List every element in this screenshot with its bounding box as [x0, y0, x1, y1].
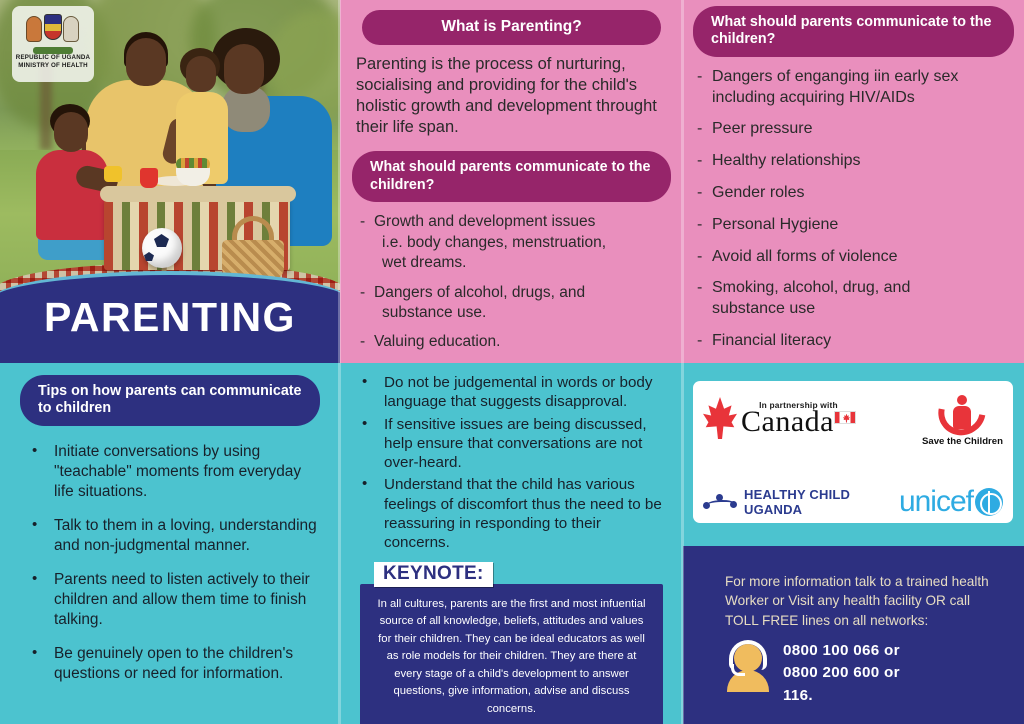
toll-free-numbers: 0800 100 066 or 0800 200 600 or 116. — [783, 640, 900, 708]
contact-information-box: For more information talk to a trained h… — [683, 546, 1024, 724]
healthy-child-uganda-icon — [703, 494, 738, 510]
list-item-sub1: substance use. — [374, 303, 671, 323]
list-item-main: Dangers of alcohol, drugs, and — [374, 284, 585, 301]
save-the-children-logo: Save the Children — [922, 389, 1003, 447]
list-item-cont: substance use — [712, 299, 1014, 320]
list-item-main: Valuing education. — [374, 333, 500, 350]
heading-what-should-parents-communicate-right: What should parents communicate to the c… — [693, 6, 1014, 57]
communicate-topics-list-right: Dangers of engangi­ng iin early sex incl… — [697, 67, 1014, 352]
uganda-ministry-of-health-logo: REPUBLIC OF UGANDA MINISTRY OF HEALTH — [12, 6, 94, 82]
unicef-globe-icon — [975, 488, 1003, 516]
list-item-main: Avoid all forms of violence — [712, 248, 898, 265]
canada-logo: In partnership with Canada — [703, 397, 856, 439]
list-item-main: Dangers of engangi­ng iin early sex — [712, 68, 958, 85]
column-divider-2 — [681, 0, 684, 724]
list-item-sub1: i.e. body changes, menstruation, — [374, 233, 671, 253]
phone-number-2: 0800 200 600 or — [783, 662, 900, 685]
canada-flag-icon — [834, 411, 856, 424]
keynote-block: KEYNOTE: In all cultures, parents are th… — [360, 562, 663, 724]
list-item: Parents need to listen actively to their… — [32, 570, 320, 630]
list-item-cont: including acquiring HIV/AIDs — [712, 88, 1014, 109]
partner-logos-card: In partnership with Canada Save the Chil… — [693, 381, 1013, 523]
list-item: Be genuinely open to the children's ques… — [32, 644, 320, 684]
heading-tips: Tips on how parents can communicate to c… — [20, 375, 320, 426]
headset-agent-icon — [725, 640, 771, 692]
list-item-main: Healthy relationships — [712, 152, 861, 169]
list-item: Gender roles — [697, 183, 1014, 204]
poster-title-banner: PARENTING — [0, 271, 340, 363]
tips-list: Initiate conversations by using "teachab… — [32, 442, 320, 684]
partner-logos-row-2: HEALTHY CHILD UGANDA unicef — [703, 487, 1003, 517]
list-item: Do not be judgemental in words or body l… — [362, 373, 669, 412]
maple-leaf-icon — [703, 397, 737, 439]
list-item: Understand that the child has various fe… — [362, 475, 669, 552]
column-divider-1 — [338, 0, 341, 724]
heading-what-is-parenting: What is Parenting? — [362, 10, 661, 45]
tips-continued-list: Do not be judgemental in words or body l… — [362, 373, 669, 553]
logo-line-2: MINISTRY OF HEALTH — [18, 62, 87, 70]
heading-what-should-parents-communicate-mid: What should parents communicate to the c… — [352, 151, 671, 202]
phone-number-1: 0800 100 066 or — [783, 640, 900, 663]
save-the-children-label: Save the Children — [922, 436, 1003, 447]
list-item-main: Personal Hygiene — [712, 216, 838, 233]
partners-and-contact-panel: In partnership with Canada Save the Chil… — [683, 363, 1024, 724]
list-item-main: Peer pressure — [712, 120, 813, 137]
communicate-topics-list-mid: Growth and development issues i.e. body … — [360, 212, 671, 353]
list-item: Dangers of engangi­ng iin early sex incl… — [697, 67, 1014, 109]
poster-title: PARENTING — [44, 294, 296, 345]
communicate-topics-panel: What should parents communicate to the c… — [683, 0, 1024, 363]
healthy-child-uganda-logo: HEALTHY CHILD UGANDA — [703, 487, 899, 517]
red-cup — [140, 168, 158, 188]
keynote-text: In all cultures, parents are the first a… — [360, 584, 663, 724]
list-item-main: Smoking, alcohol, drug, and — [712, 279, 910, 296]
list-item: Avoid all forms of violence — [697, 247, 1014, 268]
save-the-children-icon — [938, 389, 986, 435]
partner-logos-row-1: In partnership with Canada Save the Chil… — [703, 389, 1003, 447]
list-item: Valuing education. — [360, 332, 671, 352]
list-item-main: Growth and development issues — [374, 213, 595, 230]
poster-root: REPUBLIC OF UGANDA MINISTRY OF HEALTH PA… — [0, 0, 1024, 724]
list-item: Healthy relationships — [697, 151, 1014, 172]
coat-of-arms-icon — [25, 8, 81, 54]
list-item: If sensitive issues are being discussed,… — [362, 415, 669, 473]
list-item: Peer pressure — [697, 119, 1014, 140]
tips-panel: Tips on how parents can communicate to c… — [0, 363, 340, 724]
tips-continued-panel: Do not be judgemental in words or body l… — [340, 363, 683, 724]
keynote-label: KEYNOTE: — [374, 562, 493, 587]
family-photo-panel: REPUBLIC OF UGANDA MINISTRY OF HEALTH PA… — [0, 0, 340, 363]
list-item: Growth and development issues i.e. body … — [360, 212, 671, 273]
list-item-main: Gender roles — [712, 184, 805, 201]
list-item: Financial literacy — [697, 331, 1014, 352]
unicef-logo: unicef — [899, 487, 1003, 517]
list-item: Personal Hygiene — [697, 215, 1014, 236]
parenting-definition-text: Parenting is the process of nurturing, s… — [356, 54, 669, 138]
list-item: Dangers of alcohol, drugs, and substance… — [360, 283, 671, 324]
healthy-child-uganda-label: HEALTHY CHILD UGANDA — [744, 487, 899, 517]
list-item-sub2: wet dreams. — [374, 253, 671, 273]
list-item: Smoking, alcohol, drug, and substance us… — [697, 278, 1014, 320]
what-is-parenting-panel: What is Parenting? Parenting is the proc… — [340, 0, 683, 363]
contact-instructions: For more information talk to a trained h… — [725, 572, 1004, 630]
canada-wordmark: Canada — [741, 407, 856, 437]
list-item: Talk to them in a loving, understanding … — [32, 516, 320, 556]
canada-label: Canada — [741, 405, 834, 438]
football-icon — [142, 228, 182, 268]
list-item-main: Financial literacy — [712, 332, 831, 349]
list-item: Initiate conversations by using "teachab… — [32, 442, 320, 502]
phone-number-3: 116. — [783, 685, 900, 708]
unicef-label: unicef — [899, 487, 973, 517]
logo-line-1: REPUBLIC OF UGANDA — [16, 54, 90, 62]
